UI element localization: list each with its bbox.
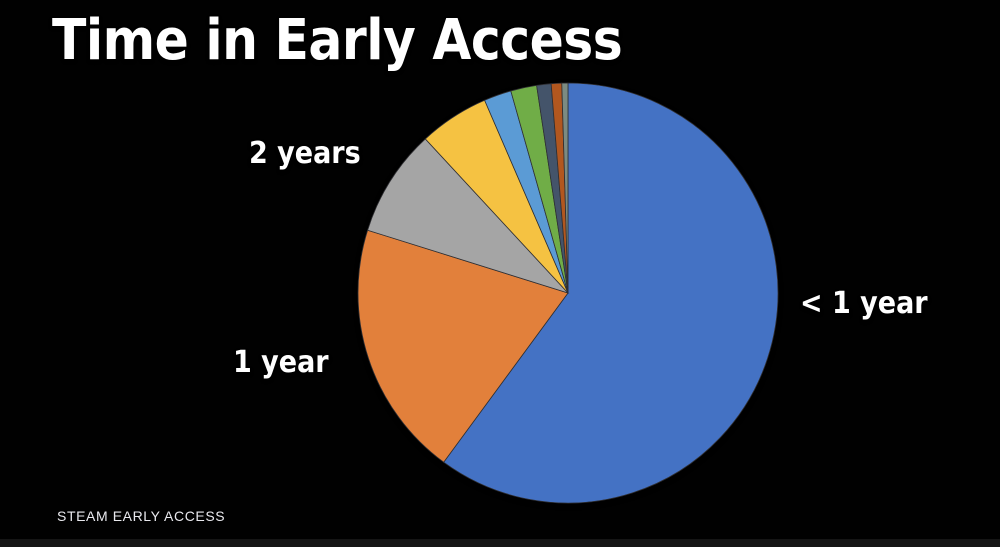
pie-label-1-year: 1 year [233, 346, 329, 380]
page-title: Time in Early Access [52, 8, 622, 74]
pie-label-2-years: 2 years [249, 137, 361, 171]
pie-chart [357, 82, 779, 504]
bottom-divider [0, 539, 1000, 547]
pie-label-lt-1-year: < 1 year [800, 287, 928, 321]
slide-canvas: Time in Early Access < 1 year 2 years 1 … [0, 0, 1000, 547]
footer-caption: STEAM EARLY ACCESS [57, 508, 225, 524]
pie-slice-group [358, 83, 778, 503]
pie-chart-svg [357, 82, 779, 504]
